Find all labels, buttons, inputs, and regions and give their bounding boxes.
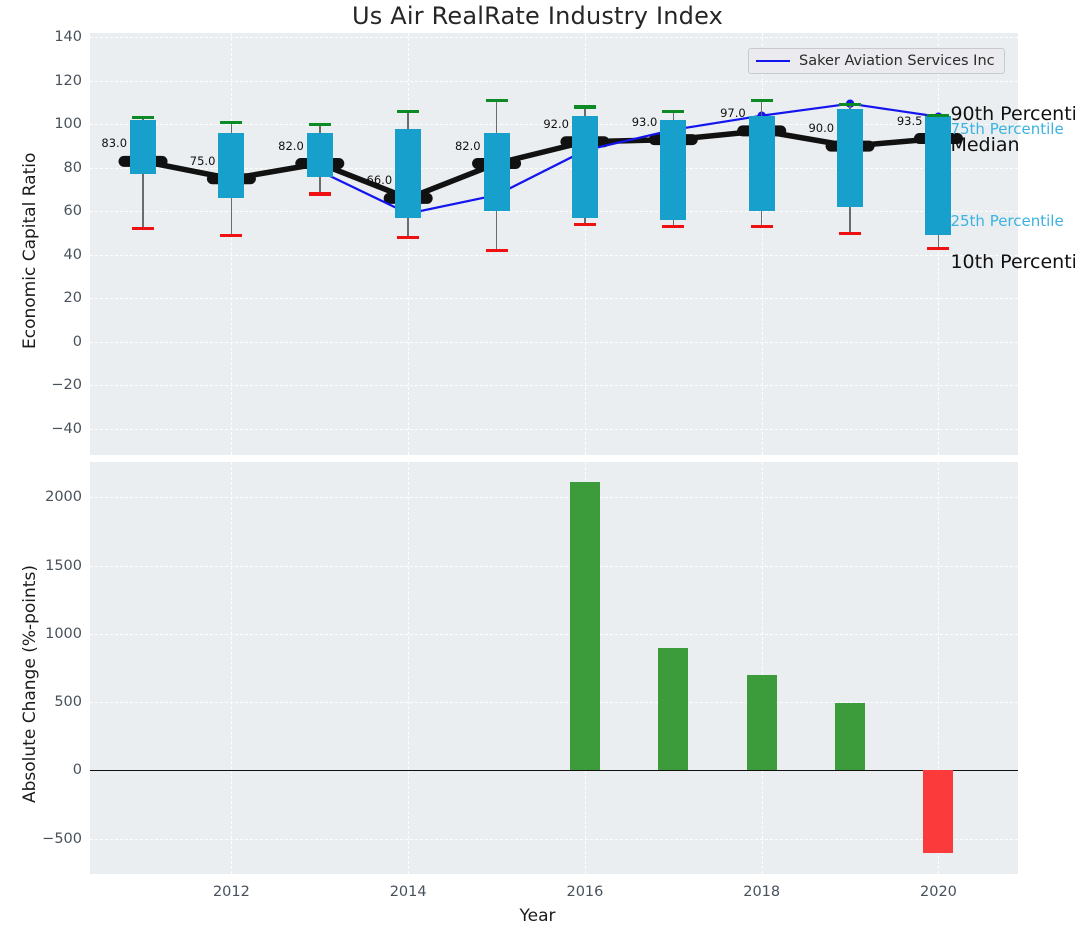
boxplot-cap-lower [486,249,508,252]
chart-title: Us Air RealRate Industry Index [0,2,1075,30]
chart-root: Us Air RealRate Industry Index 140120100… [0,0,1075,942]
median-value-label: 90.0 [808,121,834,135]
boxplot-cap-lower [574,223,596,226]
boxplot-cap-upper [132,116,154,119]
grid-line-vertical [585,33,586,455]
median-value-label: 97.0 [720,106,746,120]
grid-line-horizontal [90,385,1018,386]
grid-line-horizontal [90,342,1018,343]
boxplot-cap-upper [220,121,242,124]
y-tick-label-bottom: 500 [0,694,82,710]
y-tick-label-top: −40 [0,421,82,437]
boxplot-cap-lower [397,236,419,239]
boxplot-cap-upper [839,103,861,106]
grid-line-vertical [231,462,232,874]
grid-line-horizontal [90,81,1018,82]
x-tick-label: 2016 [566,884,603,900]
boxplot-box [749,116,775,212]
x-tick-label: 2012 [213,884,250,900]
y-tick-label-bottom: 0 [0,762,82,778]
boxplot-box [395,129,421,218]
y-tick-label-top: 40 [0,247,82,263]
boxplot-cap-upper [309,123,331,126]
bottom-y-axis-label: Absolute Change (%-points) [20,565,40,803]
bar-2017 [658,648,688,771]
boxplot-cap-upper [927,114,949,117]
boxplot-cap-lower [220,234,242,237]
median-value-label: 83.0 [101,136,127,150]
y-tick-label-top: 0 [0,334,82,350]
y-tick-label-bottom: −500 [0,831,82,847]
grid-line-vertical [762,33,763,455]
boxplot-cap-lower [927,247,949,250]
grid-line-horizontal [90,211,1018,212]
legend[interactable]: Saker Aviation Services Inc [748,48,1005,74]
median-value-label: 75.0 [190,154,216,168]
bar-2019 [835,703,865,771]
grid-line-horizontal [90,37,1018,38]
x-tick-label: 2020 [920,884,957,900]
top-y-axis-label: Economic Capital Ratio [20,153,40,349]
p25-annotation: 25th Percentile [950,212,1063,230]
grid-line-vertical [762,462,763,874]
boxplot-box [837,109,863,207]
boxplot-box [925,116,951,236]
boxplot-cap-upper [662,110,684,113]
boxplot-box [218,133,244,198]
boxplot-box [484,133,510,211]
grid-line-horizontal [90,429,1018,430]
boxplot-cap-upper [397,110,419,113]
boxplot-cap-lower [309,192,331,195]
grid-line-horizontal [90,497,1018,498]
boxplot-cap-lower [132,227,154,230]
y-tick-label-bottom: 2000 [0,489,82,505]
x-tick-label: 2014 [390,884,427,900]
median-value-label: 82.0 [455,139,481,153]
median-value-label: 92.0 [543,117,569,131]
median-annotation: Median [950,134,1019,156]
boxplot-cap-upper [486,99,508,102]
bar-2020 [923,770,953,853]
y-tick-label-bottom: 1000 [0,626,82,642]
boxplot-cap-lower [751,225,773,228]
grid-line-horizontal [90,566,1018,567]
bar-2016 [570,482,600,771]
median-value-label: 82.0 [278,139,304,153]
median-value-label: 93.0 [632,115,658,129]
boxplot-cap-upper [751,99,773,102]
boxplot-cap-upper [574,105,596,108]
y-tick-label-bottom: 1500 [0,558,82,574]
grid-line-horizontal [90,634,1018,635]
boxplot-cap-lower [662,225,684,228]
zero-baseline [90,770,1018,772]
bottom-subplot-panel [90,462,1018,874]
y-tick-label-top: −20 [0,377,82,393]
top-subplot-panel [90,33,1018,455]
grid-line-horizontal [90,298,1018,299]
y-tick-label-top: 140 [0,29,82,45]
y-tick-label-top: 60 [0,203,82,219]
legend-line-swatch [756,60,790,62]
boxplot-box [307,133,333,177]
y-tick-label-top: 100 [0,116,82,132]
bar-2018 [747,675,777,770]
boxplot-cap-lower [839,232,861,235]
y-tick-label-top: 20 [0,290,82,306]
grid-line-vertical [231,33,232,455]
median-value-label: 66.0 [367,173,393,187]
legend-label: Saker Aviation Services Inc [799,53,995,69]
x-tick-label: 2018 [743,884,780,900]
x-axis-label: Year [0,906,1075,926]
y-tick-label-top: 120 [0,73,82,89]
grid-line-horizontal [90,702,1018,703]
median-value-label: 93.5 [897,114,923,128]
grid-line-horizontal [90,255,1018,256]
grid-line-horizontal [90,839,1018,840]
y-tick-label-top: 80 [0,160,82,176]
grid-line-vertical [408,33,409,455]
boxplot-box [572,116,598,218]
boxplot-box [130,120,156,174]
grid-line-vertical [408,462,409,874]
boxplot-box [660,120,686,220]
p10-annotation: 10th Percentile [950,251,1075,273]
